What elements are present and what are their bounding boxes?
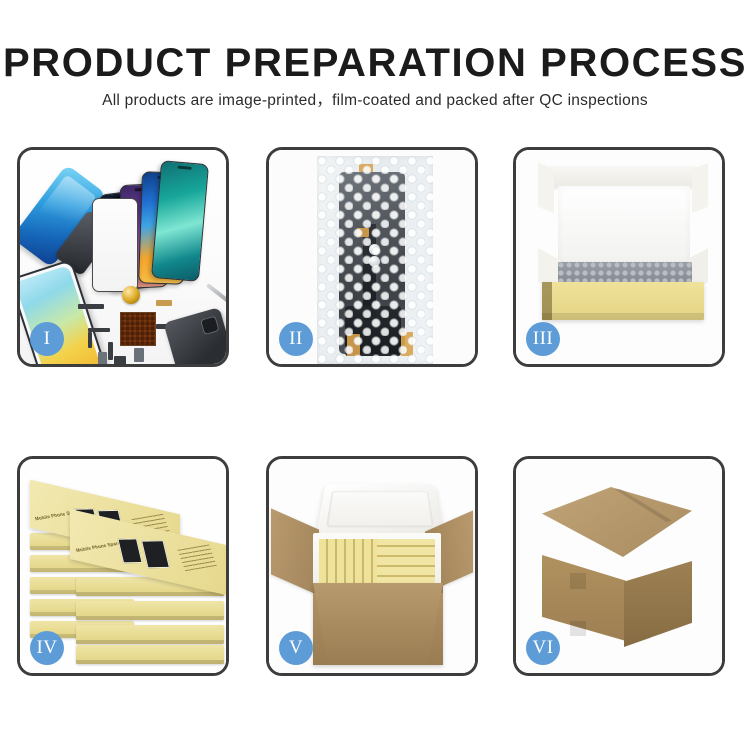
process-step-5: V	[266, 456, 478, 676]
part-flex-cable	[88, 332, 92, 348]
bubble-wrap-bag	[317, 156, 433, 364]
step-badge-2: II	[279, 322, 313, 356]
step-badge-5: V	[279, 631, 313, 665]
chip-grid	[120, 312, 156, 346]
step-badge-6: VI	[526, 631, 560, 665]
yellow-box-base	[542, 282, 704, 320]
stacked-box	[76, 625, 224, 644]
part-flex-cable	[108, 342, 113, 360]
phone-back-housing	[163, 307, 226, 364]
part-button	[98, 352, 107, 364]
step-badge-3: III	[526, 322, 560, 356]
spare-parts-group	[78, 286, 226, 364]
part-speaker	[114, 356, 126, 364]
carton-front-face	[313, 583, 443, 665]
bubble-texture	[317, 156, 433, 364]
tweezers-icon	[206, 283, 226, 305]
process-step-grid: I II	[0, 0, 750, 750]
part-bracket	[134, 348, 144, 362]
box-window-right	[141, 540, 170, 568]
process-step-6: VI	[513, 456, 725, 676]
stacked-box	[76, 645, 224, 664]
process-step-1: I	[17, 147, 229, 367]
tempered-glass-protector	[92, 198, 138, 292]
step-badge-4: IV	[30, 631, 64, 665]
part-strip	[78, 304, 104, 309]
box-spec-lines	[177, 543, 217, 571]
stacked-box	[76, 601, 224, 620]
carton-hand-hole-lower	[570, 621, 586, 636]
phone-teal	[151, 160, 209, 282]
carton-hand-hole-upper	[570, 573, 586, 589]
box-window-left	[117, 538, 142, 563]
part-connector	[156, 300, 172, 306]
process-step-4: Mobile Phone Spare Parts Mobile Phone Sp…	[17, 456, 229, 676]
carton-body	[313, 583, 443, 665]
yellow-boxes-row-cross	[377, 539, 435, 585]
foam-lid-open	[316, 484, 444, 536]
process-step-3: III	[513, 147, 725, 367]
notch-icon	[178, 166, 192, 170]
step-badge-1: I	[30, 322, 64, 356]
camera-lens-icon	[122, 286, 140, 304]
process-step-2: II	[266, 147, 478, 367]
foam-lid-back	[548, 166, 698, 188]
white-foam-sheet	[558, 186, 690, 264]
